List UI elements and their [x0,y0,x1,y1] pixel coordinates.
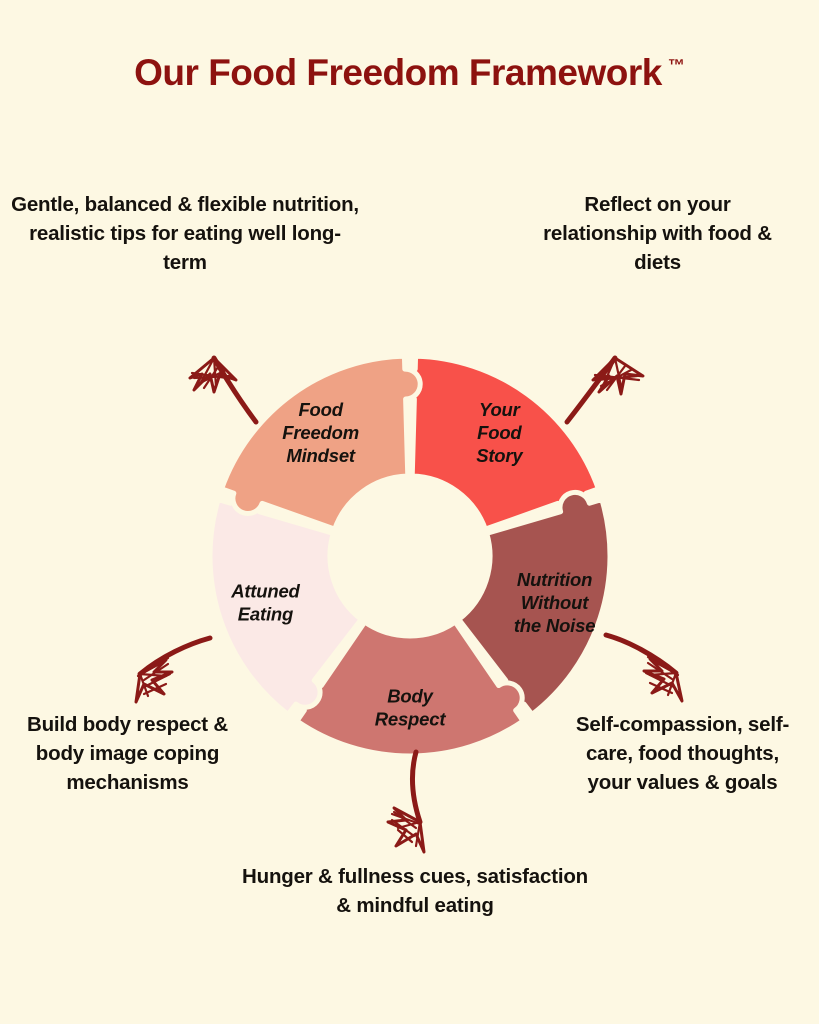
caption-your-food-story: Reflect on your relationship with food &… [525,190,790,277]
trademark-symbol: ™ [668,56,685,76]
page-title: Our Food Freedom Framework [134,52,662,94]
wheel-center-hole [330,476,490,636]
caption-attuned-eating: Hunger & fullness cues, satisfaction & m… [235,862,595,920]
arrow-to-attuned-caption [372,750,472,860]
arrow-to-body-caption [110,630,225,745]
wheel-segment-label-nutrition-without-the-noise: NutritionWithoutthe Noise [514,569,595,636]
arrow-to-nutrition-caption [170,318,270,428]
page-header: Our Food Freedom Framework™ [0,52,819,94]
wheel-segment-label-your-food-story: YourFoodStory [476,399,524,466]
arrow-to-mindset-caption [600,625,715,745]
arrow-to-story-caption [555,318,665,428]
caption-nutrition-without-the-noise: Gentle, balanced & flexible nutrition, r… [10,190,360,277]
